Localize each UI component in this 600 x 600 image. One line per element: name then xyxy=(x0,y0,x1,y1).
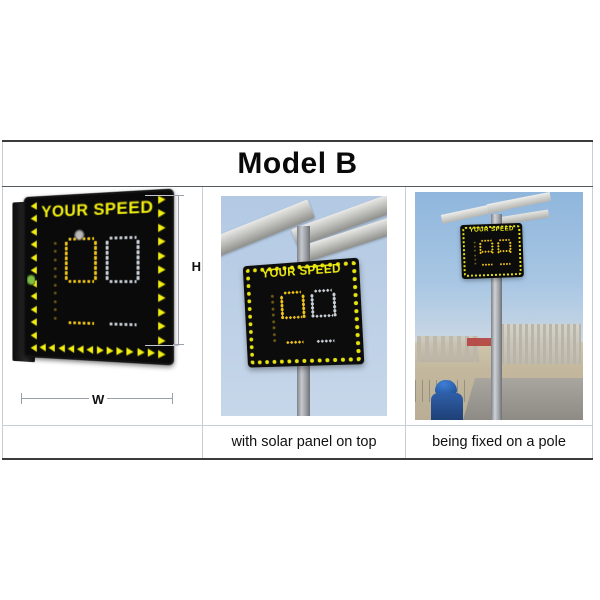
table-caption-row: with solar panel on top being fixed on a… xyxy=(3,426,593,460)
height-dimension-label: H xyxy=(192,259,201,274)
model-title-cell: Model B xyxy=(3,141,593,187)
pole-mounted-photo: YOUR SPEED xyxy=(415,192,583,420)
worker-body xyxy=(431,393,463,420)
cell-solar-panel-photo: YOUR SPEED xyxy=(203,187,406,426)
leading-digit-column xyxy=(269,293,277,344)
chevron-column-right xyxy=(155,195,169,359)
speed-sign-diagram: YOUR SPEED xyxy=(3,187,203,425)
leading-digit-column xyxy=(52,239,57,323)
industrial-plant-right xyxy=(495,324,581,364)
caption-pole-mounted: being fixed on a pole xyxy=(432,434,566,450)
led-digit-tens xyxy=(279,289,307,345)
led-digit-tens xyxy=(479,239,495,267)
your-speed-legend: YOUR SPEED xyxy=(41,197,153,222)
solar-panel-photo: YOUR SPEED xyxy=(221,196,387,416)
your-speed-legend: YOUR SPEED xyxy=(467,226,516,234)
caption-cell-pole: being fixed on a pole xyxy=(406,426,593,460)
road-surface xyxy=(463,378,583,420)
speed-sign-unit: YOUR SPEED xyxy=(460,223,524,279)
your-speed-legend: YOUR SPEED xyxy=(254,262,349,281)
caption-solar-panel: with solar panel on top xyxy=(231,434,376,450)
cell-pole-mounted-photo: YOUR SPEED xyxy=(406,187,593,426)
led-digit-ones xyxy=(497,238,513,266)
height-leader-bottom xyxy=(145,345,179,346)
table-image-row: YOUR SPEED xyxy=(3,187,593,426)
chevron-row-bottom xyxy=(40,340,156,359)
roadside-red-sign xyxy=(467,338,493,346)
led-speed-display xyxy=(43,221,151,341)
worker-figure xyxy=(431,380,463,420)
led-digit-ones xyxy=(310,288,339,344)
caption-cell-solar: with solar panel on top xyxy=(203,426,406,460)
caption-cell-diagram xyxy=(3,426,203,460)
leading-digit-column xyxy=(473,240,477,266)
sensor-indicator-icon xyxy=(27,274,35,286)
table-title-row: Model B xyxy=(3,141,593,187)
width-dimension-label: W xyxy=(89,392,107,407)
height-dimension-line xyxy=(178,195,179,345)
led-digit-ones xyxy=(105,234,141,327)
speed-sign-unit: YOUR SPEED xyxy=(243,258,365,368)
hard-hat-icon xyxy=(435,380,457,394)
page-title: Model B xyxy=(237,147,357,180)
cell-dimension-diagram: YOUR SPEED xyxy=(3,187,203,426)
product-spec-table: Model B xyxy=(2,140,593,460)
led-speed-display xyxy=(257,279,351,354)
led-digit-tens xyxy=(64,236,98,327)
sign-face: YOUR SPEED xyxy=(24,188,174,365)
led-speed-display xyxy=(469,234,515,271)
speed-sign-3d: YOUR SPEED xyxy=(24,188,174,365)
